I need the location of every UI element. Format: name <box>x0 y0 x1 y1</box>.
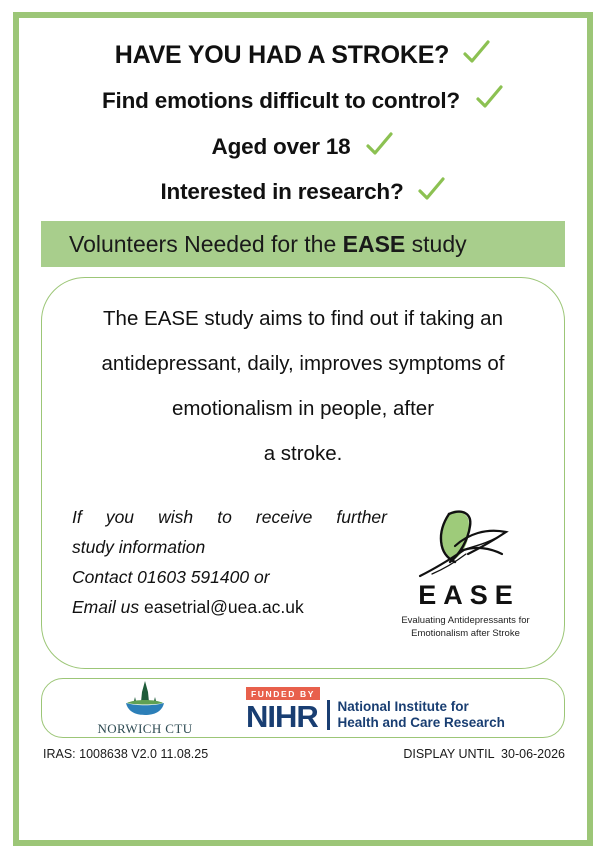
funder-logo-box: NORWICH CTU FUNDED BY NIHR National Inst… <box>41 678 565 738</box>
headline-text-1: HAVE YOU HAD A STROKE? <box>115 41 450 70</box>
contact-area: If you wish to receive further study inf… <box>68 502 538 640</box>
iras-reference: IRAS: 1008638 V2.0 11.08.25 <box>43 747 208 761</box>
headline-row-2: Find emotions difficult to control? <box>19 83 587 119</box>
email-label: Email us <box>72 597 144 617</box>
contact-phone-line: Contact 01603 591400 or <box>72 562 387 592</box>
headline-row-4: Interested in research? <box>19 175 587 209</box>
study-aim: The EASE study aims to find out if takin… <box>68 296 538 476</box>
nihr-acronym: NIHR <box>246 702 320 732</box>
ease-logo: EASE Evaluating Antidepressants for Emot… <box>393 502 538 640</box>
headline-text-2: Find emotions difficult to control? <box>102 88 460 114</box>
norwich-ctu-logo: NORWICH CTU <box>90 680 200 737</box>
contact-line-2: study information <box>72 532 387 562</box>
display-until: DISPLAY UNTIL 30-06-2026 <box>403 747 565 761</box>
headline-text-3: Aged over 18 <box>212 134 351 160</box>
check-icon <box>461 38 491 68</box>
aim-line-2: antidepressant, daily, improves symptoms… <box>68 341 538 386</box>
nihr-logo: FUNDED BY NIHR National Institute for He… <box>246 684 505 733</box>
headline-list: HAVE YOU HAD A STROKE? Find emotions dif… <box>19 18 587 215</box>
check-icon <box>474 83 504 113</box>
email-address[interactable]: easetrial@uea.ac.uk <box>144 597 304 617</box>
check-icon <box>364 130 394 160</box>
banner-suffix: study <box>405 231 466 257</box>
volunteers-banner: Volunteers Needed for the EASE study <box>41 221 565 267</box>
nihr-full-line-1: National Institute for <box>338 699 505 715</box>
ease-wordmark: EASE <box>393 580 538 611</box>
nihr-full-name: National Institute for Health and Care R… <box>338 699 505 732</box>
aim-line-3: emotionalism in people, after <box>68 386 538 431</box>
norwich-cathedral-icon <box>118 680 172 716</box>
content-box: The EASE study aims to find out if takin… <box>41 277 565 669</box>
check-icon <box>416 175 446 205</box>
meta-line: IRAS: 1008638 V2.0 11.08.25 DISPLAY UNTI… <box>19 738 587 761</box>
ease-bird-icon <box>406 506 526 582</box>
nihr-divider <box>327 700 330 730</box>
headline-text-4: Interested in research? <box>161 179 404 205</box>
aim-line-1: The EASE study aims to find out if takin… <box>68 296 538 341</box>
contact-details: If you wish to receive further study inf… <box>68 502 387 622</box>
poster: HAVE YOU HAD A STROKE? Find emotions dif… <box>0 0 606 857</box>
contact-line-1: If you wish to receive further <box>72 502 387 532</box>
headline-row-3: Aged over 18 <box>19 130 587 164</box>
nihr-left-block: FUNDED BY NIHR <box>246 684 320 733</box>
contact-email-line: Email us easetrial@uea.ac.uk <box>72 592 387 622</box>
ease-subtitle-line-2: Emotionalism after Stroke <box>393 627 538 640</box>
aim-line-4: a stroke. <box>68 431 538 476</box>
poster-frame: HAVE YOU HAD A STROKE? Find emotions dif… <box>13 12 593 846</box>
banner-text: Volunteers Needed for the EASE study <box>69 231 467 258</box>
headline-row-1: HAVE YOU HAD A STROKE? <box>19 38 587 72</box>
banner-prefix: Volunteers Needed for the <box>69 231 343 257</box>
norwich-ctu-name: NORWICH CTU <box>90 721 200 737</box>
ease-subtitle-line-1: Evaluating Antidepressants for <box>393 614 538 627</box>
nihr-full-line-2: Health and Care Research <box>338 715 505 731</box>
ease-subtitle: Evaluating Antidepressants for Emotional… <box>393 614 538 640</box>
banner-emphasis: EASE <box>343 231 406 257</box>
